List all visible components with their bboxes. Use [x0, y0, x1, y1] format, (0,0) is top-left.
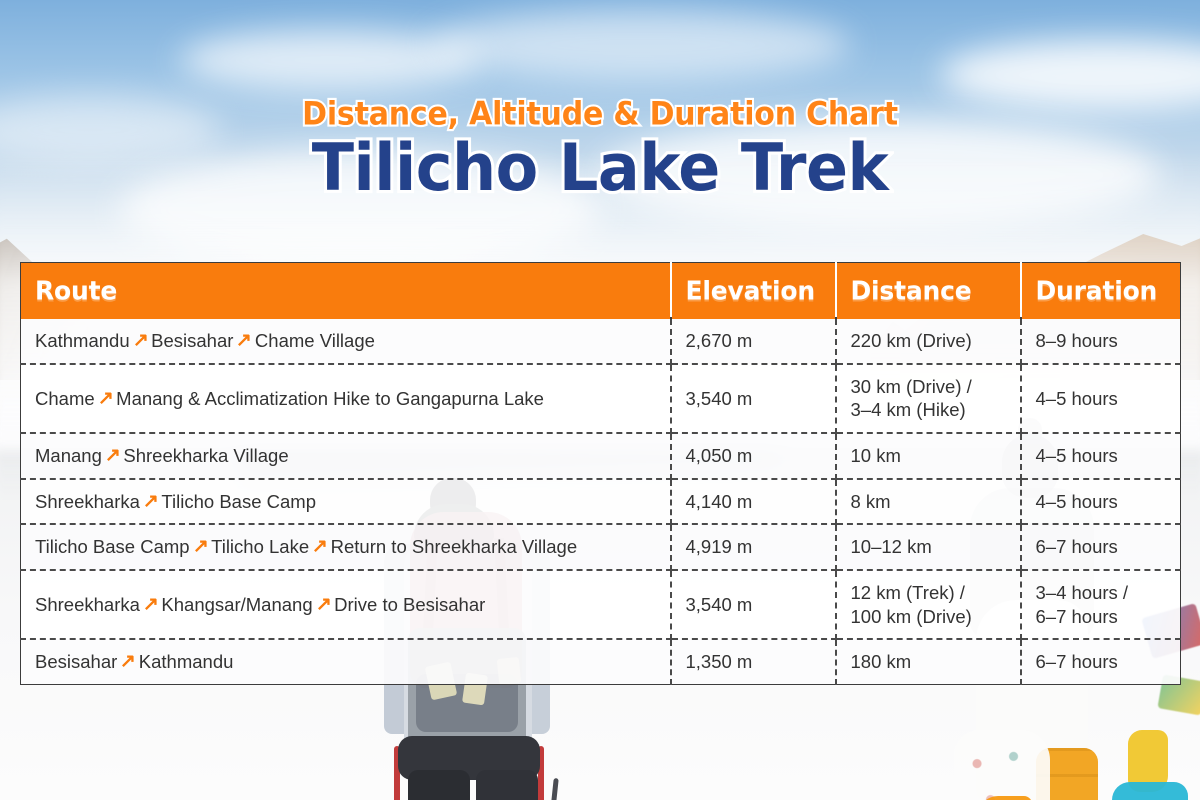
cell-distance: 180 km — [836, 639, 1021, 684]
route-segment: Manang & Acclimatization Hike to Gangapu… — [116, 388, 544, 409]
route-segment: Shreekharka — [35, 594, 140, 615]
table-body: Kathmandu↗Besisahar↗Chame Village2,670 m… — [21, 318, 1181, 685]
cell-duration-line: 6–7 hours — [1036, 650, 1167, 674]
cell-elevation: 3,540 m — [671, 570, 836, 639]
cell-elevation-line: 2,670 m — [686, 329, 821, 353]
cell-elevation: 2,670 m — [671, 318, 836, 364]
cell-route: Chame↗Manang & Acclimatization Hike to G… — [21, 364, 671, 433]
route-segment: Besisahar — [35, 651, 117, 672]
cell-duration: 8–9 hours — [1021, 318, 1181, 364]
route-segment: Shreekharka — [35, 491, 140, 512]
table-row: Chame↗Manang & Acclimatization Hike to G… — [21, 364, 1181, 433]
cell-distance-line: 100 km (Drive) — [851, 605, 1006, 629]
cell-distance-line: 8 km — [851, 490, 1006, 514]
route-segment: Tilicho Lake — [211, 536, 309, 557]
cell-route: Tilicho Base Camp↗Tilicho Lake↗Return to… — [21, 524, 671, 570]
title-block: Distance, Altitude & Duration Chart Tili… — [0, 98, 1200, 202]
route-segment: Chame — [35, 388, 95, 409]
cell-elevation-line: 4,140 m — [686, 490, 821, 514]
cell-elevation-line: 3,540 m — [686, 387, 821, 411]
cell-distance-line: 3–4 km (Hike) — [851, 398, 1006, 422]
trekker-leg — [408, 770, 470, 800]
route-segment: Kathmandu — [139, 651, 234, 672]
cell-distance: 30 km (Drive) /3–4 km (Hike) — [836, 364, 1021, 433]
trek-chart-table: Route Elevation Distance Duration Kathma… — [20, 262, 1181, 685]
table-header-row: Route Elevation Distance Duration — [21, 263, 1181, 319]
cell-elevation-line: 4,919 m — [686, 535, 821, 559]
cell-duration-line: 6–7 hours — [1036, 605, 1167, 629]
cell-elevation: 1,350 m — [671, 639, 836, 684]
cell-distance-line: 10 km — [851, 444, 1006, 468]
cell-distance: 8 km — [836, 479, 1021, 525]
cell-duration: 4–5 hours — [1021, 479, 1181, 525]
cell-elevation-line: 4,050 m — [686, 444, 821, 468]
patterned-khata-scarf — [954, 730, 1050, 800]
route-segment: Tilicho Base Camp — [161, 491, 316, 512]
route-arrow-icon: ↗ — [102, 443, 124, 467]
route-segment: Manang — [35, 445, 102, 466]
cell-distance: 220 km (Drive) — [836, 318, 1021, 364]
cell-duration-line: 6–7 hours — [1036, 535, 1167, 559]
poster-root: Distance, Altitude & Duration Chart Tili… — [0, 0, 1200, 800]
cell-duration: 6–7 hours — [1021, 639, 1181, 684]
page-title: Tilicho Lake Trek — [0, 132, 1200, 204]
cell-elevation-line: 1,350 m — [686, 650, 821, 674]
route-segment: Tilicho Base Camp — [35, 536, 190, 557]
route-arrow-icon: ↗ — [189, 534, 211, 558]
cell-distance: 12 km (Trek) /100 km (Drive) — [836, 570, 1021, 639]
trekking-pole-icon — [542, 778, 558, 800]
cell-route: Shreekharka↗Khangsar/Manang↗Drive to Bes… — [21, 570, 671, 639]
cyan-khata-scarf — [1112, 782, 1188, 800]
cell-distance-line: 30 km (Drive) / — [851, 375, 1006, 399]
table-row: Besisahar↗Kathmandu1,350 m180 km6–7 hour… — [21, 639, 1181, 684]
cell-duration-line: 3–4 hours / — [1036, 581, 1167, 605]
cell-duration-line: 8–9 hours — [1036, 329, 1167, 353]
table-row: Kathmandu↗Besisahar↗Chame Village2,670 m… — [21, 318, 1181, 364]
cell-duration-line: 4–5 hours — [1036, 387, 1167, 411]
table-row: Shreekharka↗Khangsar/Manang↗Drive to Bes… — [21, 570, 1181, 639]
cell-duration: 4–5 hours — [1021, 433, 1181, 479]
column-header-elevation[interactable]: Elevation — [671, 261, 836, 319]
route-arrow-icon: ↗ — [140, 592, 162, 616]
route-arrow-icon: ↗ — [140, 488, 162, 512]
cell-elevation: 4,050 m — [671, 433, 836, 479]
cell-distance-line: 180 km — [851, 650, 1006, 674]
cell-route: Kathmandu↗Besisahar↗Chame Village — [21, 318, 671, 364]
route-segment: Return to Shreekharka Village — [331, 536, 577, 557]
table-row: Manang↗Shreekharka Village4,050 m10 km4–… — [21, 433, 1181, 479]
route-arrow-icon: ↗ — [129, 328, 151, 352]
cell-distance-line: 220 km (Drive) — [851, 329, 1006, 353]
route-segment: Shreekharka Village — [123, 445, 288, 466]
cell-route: Besisahar↗Kathmandu — [21, 639, 671, 684]
route-segment: Drive to Besisahar — [334, 594, 485, 615]
cell-duration: 4–5 hours — [1021, 364, 1181, 433]
cell-distance: 10–12 km — [836, 524, 1021, 570]
cell-distance-line: 12 km (Trek) / — [851, 581, 1006, 605]
cell-elevation-line: 3,540 m — [686, 593, 821, 617]
route-arrow-icon: ↗ — [233, 328, 255, 352]
cell-elevation: 4,919 m — [671, 524, 836, 570]
table-row: Shreekharka↗Tilicho Base Camp4,140 m8 km… — [21, 479, 1181, 525]
cell-elevation: 4,140 m — [671, 479, 836, 525]
column-header-distance[interactable]: Distance — [836, 261, 1021, 319]
column-header-route[interactable]: Route — [21, 261, 671, 319]
route-segment: Besisahar — [151, 330, 233, 351]
cell-duration: 3–4 hours /6–7 hours — [1021, 570, 1181, 639]
route-arrow-icon: ↗ — [309, 534, 331, 558]
cell-route: Manang↗Shreekharka Village — [21, 433, 671, 479]
trek-chart-container: Route Elevation Distance Duration Kathma… — [20, 262, 1180, 685]
route-segment: Khangsar/Manang — [161, 594, 312, 615]
cell-duration-line: 4–5 hours — [1036, 490, 1167, 514]
route-segment: Kathmandu — [35, 330, 130, 351]
cloud-decoration — [430, 10, 850, 80]
cell-duration: 6–7 hours — [1021, 524, 1181, 570]
route-arrow-icon: ↗ — [312, 592, 334, 616]
route-arrow-icon: ↗ — [94, 385, 116, 409]
route-segment: Chame Village — [255, 330, 375, 351]
column-header-duration[interactable]: Duration — [1021, 261, 1181, 319]
cell-route: Shreekharka↗Tilicho Base Camp — [21, 479, 671, 525]
subtitle-kicker: Distance, Altitude & Duration Chart — [0, 97, 1200, 133]
cell-distance: 10 km — [836, 433, 1021, 479]
table-header: Route Elevation Distance Duration — [21, 263, 1181, 319]
route-arrow-icon: ↗ — [117, 649, 139, 673]
cell-elevation: 3,540 m — [671, 364, 836, 433]
trekker-leg — [476, 770, 538, 800]
cell-duration-line: 4–5 hours — [1036, 444, 1167, 468]
cell-distance-line: 10–12 km — [851, 535, 1006, 559]
table-row: Tilicho Base Camp↗Tilicho Lake↗Return to… — [21, 524, 1181, 570]
